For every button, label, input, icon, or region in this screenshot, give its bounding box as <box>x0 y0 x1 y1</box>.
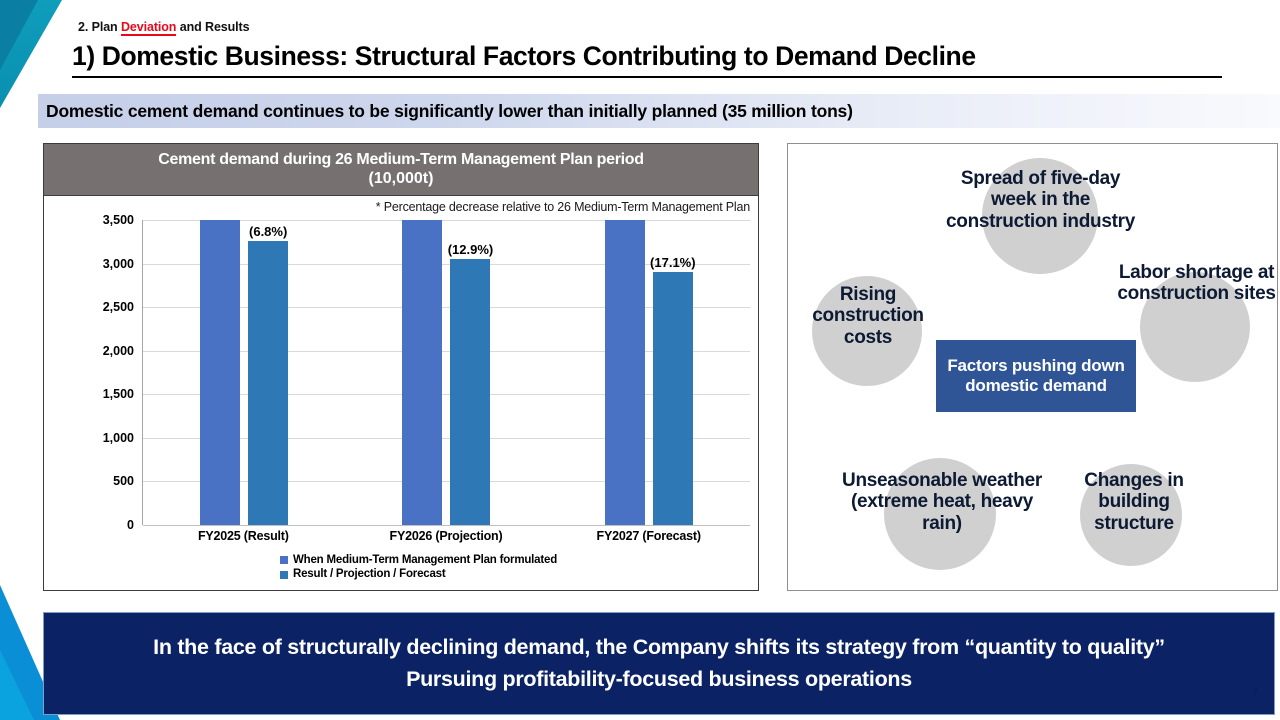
legend-label-plan: When Medium-Term Management Plan formula… <box>293 553 557 567</box>
subtitle-band: Domestic cement demand continues to be s… <box>38 94 1280 128</box>
x-axis: FY2025 (Result)FY2026 (Projection)FY2027… <box>142 529 750 547</box>
factor-label-labor-shortage: Labor shortage at construction sites <box>1114 262 1279 305</box>
chart-panel: Cement demand during 26 Medium-Term Mana… <box>43 143 759 591</box>
conclusion-line1: In the face of structurally declining de… <box>153 635 1165 659</box>
y-axis-tick-label: 3,000 <box>103 257 134 271</box>
chart-footnote: * Percentage decrease relative to 26 Med… <box>44 196 758 214</box>
y-axis-tick-label: 1,500 <box>103 387 134 401</box>
chart-title-line1: Cement demand during 26 Medium-Term Mana… <box>158 152 644 168</box>
page-title: 1) Domestic Business: Structural Factors… <box>72 41 1232 72</box>
gridline <box>143 525 750 526</box>
bar-group: (6.8%) <box>143 220 345 525</box>
y-axis-tick-label: 500 <box>113 474 134 488</box>
factor-label-five-day-week: Spread of five-day week in the construct… <box>938 168 1143 232</box>
legend-item-plan: When Medium-Term Management Plan formula… <box>280 553 758 567</box>
bar-group: (12.9%) <box>345 220 547 525</box>
plot-canvas: (6.8%)(12.9%)(17.1%) <box>142 220 750 525</box>
legend-swatch-icon <box>280 556 288 564</box>
factors-panel: Spread of five-day week in the construct… <box>787 143 1278 591</box>
bar-value-label: (12.9%) <box>448 242 494 257</box>
x-axis-tick-label: FY2025 (Result) <box>142 529 345 547</box>
bar-value-label: (17.1%) <box>650 255 696 270</box>
bar-value-label: (6.8%) <box>249 224 287 239</box>
bar-actual: (6.8%) <box>248 241 288 525</box>
bar-plan <box>605 220 645 525</box>
chart-plot-area: 05001,0001,5002,0002,5003,0003,500 (6.8%… <box>44 220 750 525</box>
bar-actual: (17.1%) <box>653 272 693 525</box>
subtitle-text: Domestic cement demand continues to be s… <box>38 101 853 122</box>
y-axis-tick-label: 3,500 <box>103 213 134 227</box>
y-axis-tick-label: 2,500 <box>103 300 134 314</box>
bar-actual: (12.9%) <box>450 259 490 525</box>
factor-label-weather: Unseasonable weather (extreme heat, heav… <box>834 470 1050 534</box>
section-kicker: 2. Plan Deviation and Results <box>78 20 249 34</box>
legend-swatch-icon <box>280 571 288 579</box>
page-number: 7 <box>1251 686 1258 700</box>
chart-legend: When Medium-Term Management Plan formula… <box>44 553 758 582</box>
bar-group: (17.1%) <box>548 220 750 525</box>
bar-groups: (6.8%)(12.9%)(17.1%) <box>143 220 750 525</box>
title-divider <box>72 76 1222 78</box>
chart-header: Cement demand during 26 Medium-Term Mana… <box>44 144 758 196</box>
kicker-suffix: and Results <box>176 20 249 34</box>
legend-item-actual: Result / Projection / Forecast <box>280 567 758 581</box>
legend-label-actual: Result / Projection / Forecast <box>293 567 446 581</box>
y-axis: 05001,0001,5002,0002,5003,0003,500 <box>44 220 142 525</box>
kicker-prefix: 2. Plan <box>78 20 121 34</box>
y-axis-tick-label: 0 <box>127 518 134 532</box>
x-axis-tick-label: FY2027 (Forecast) <box>547 529 750 547</box>
y-axis-tick-label: 2,000 <box>103 344 134 358</box>
center-callout-box: Factors pushing down domestic demand <box>936 340 1136 412</box>
factor-label-rising-costs: Rising construction costs <box>790 284 946 348</box>
y-axis-tick-label: 1,000 <box>103 431 134 445</box>
factor-label-building-structure: Changes in building structure <box>1064 470 1204 534</box>
kicker-highlight: Deviation <box>121 20 176 36</box>
bar-plan <box>402 220 442 525</box>
chart-title-line2: (10,000t) <box>369 171 434 187</box>
conclusion-banner: In the face of structurally declining de… <box>43 612 1275 715</box>
conclusion-line2: Pursuing profitability-focused business … <box>406 667 912 691</box>
x-axis-tick-label: FY2026 (Projection) <box>345 529 548 547</box>
conclusion-text: In the face of structurally declining de… <box>139 632 1179 694</box>
bar-plan <box>200 220 240 525</box>
